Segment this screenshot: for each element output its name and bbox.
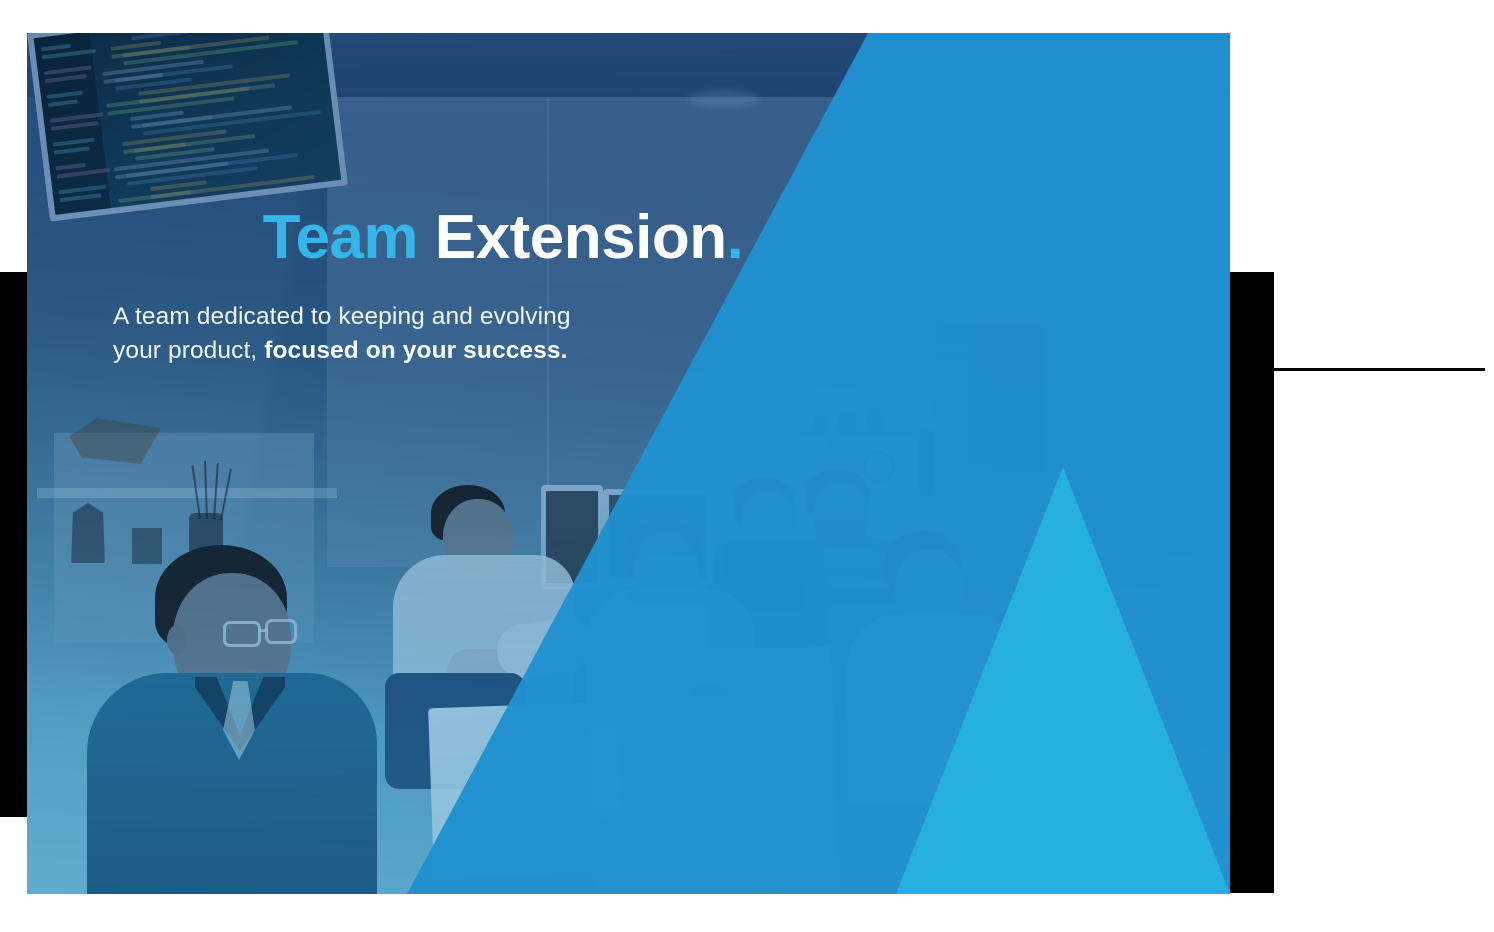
- horizontal-rule: [1274, 368, 1485, 371]
- headline-main-word: Extension: [435, 203, 727, 272]
- shadow-block-right: [1230, 272, 1274, 893]
- cover-card[interactable]: Team Extension. A team dedicated to keep…: [27, 33, 1230, 894]
- headline-accent-word: Team: [263, 203, 418, 272]
- page-title: Team Extension.: [133, 205, 873, 270]
- subtitle-line-2-regular: your product,: [113, 337, 264, 364]
- screenshot-stage: Team Extension. A team dedicated to keep…: [0, 0, 1494, 932]
- headline-dot: .: [727, 203, 744, 272]
- shadow-block-left: [0, 272, 27, 817]
- subtitle-line-1: A team dedicated to keeping and evolving: [113, 303, 571, 330]
- cover-text-block: Team Extension. A team dedicated to keep…: [113, 205, 873, 368]
- page-subtitle: A team dedicated to keeping and evolving…: [113, 300, 873, 368]
- subtitle-line-2-strong: focused on your success.: [264, 337, 567, 364]
